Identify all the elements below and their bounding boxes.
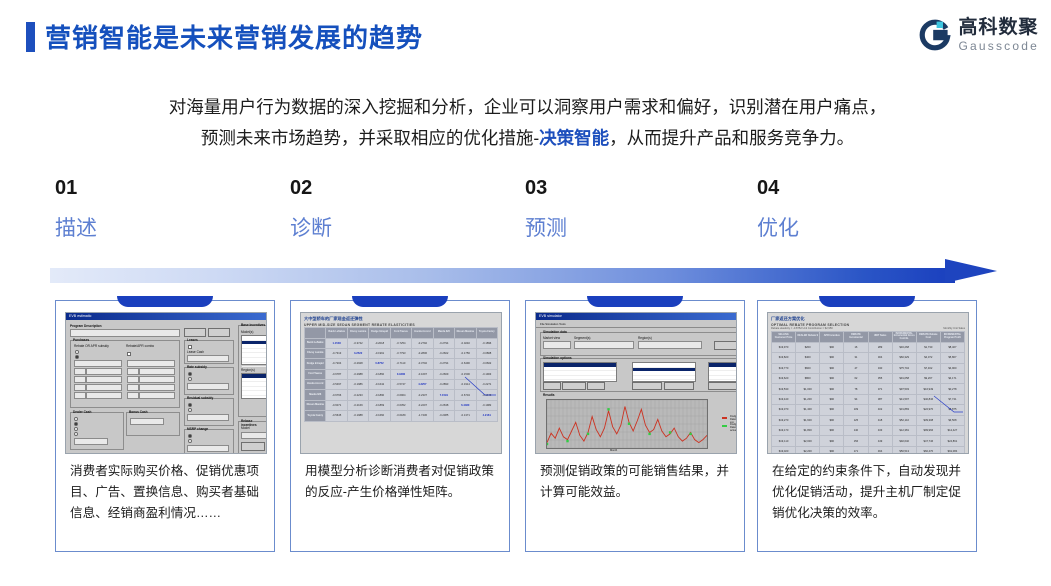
label-rebate-apr: Rebate OR APR subsidy <box>74 344 109 348</box>
combo-amount-input[interactable] <box>127 360 175 367</box>
step-describe: 01 描述 <box>55 176 255 242</box>
optimization-table: SELLING Customer PriceDEALER Rebate $APR… <box>771 331 965 455</box>
card-diagnose[interactable]: 大中型轿车的厂家现金返还弹性 UPPER MID-SIZE SEDAN SEGM… <box>290 300 510 552</box>
program-description-input[interactable] <box>70 329 180 337</box>
term-60-input[interactable] <box>86 392 122 399</box>
card-caption: 预测促销政策的可能销售结果，并计算可能效益。 <box>540 461 732 503</box>
progress-arrow <box>50 262 1000 290</box>
card-caption: 消费者实际购买价格、促销优惠项目、广告、置换信息、购买者基础信息、经销商盈利情况… <box>70 461 262 524</box>
bonus-cash-input[interactable] <box>130 418 164 425</box>
slide-header: 营销智能是未来营销发展的趋势 高科数聚 Gausscode <box>0 0 1051 78</box>
legend-swatch-actual <box>722 425 727 427</box>
matrix-title-cn: 大中型轿车的厂家现金返还弹性 <box>304 316 498 322</box>
card-row: EVB estimatic Program Description Purcha… <box>0 300 1051 556</box>
opt-title-cn: 厂家返还方案优化 <box>771 316 965 322</box>
clear-all-button[interactable] <box>664 382 694 390</box>
edit-button[interactable] <box>587 382 605 390</box>
step-row: 01 描述 02 诊断 03 预测 04 优化 <box>0 176 1051 248</box>
label-program-description: Program Description <box>70 324 102 328</box>
residual-subsidy-group <box>184 398 234 426</box>
models-list[interactable] <box>632 362 696 382</box>
thumbnail-elasticity-matrix: 大中型轿车的厂家现金返还弹性 UPPER MID-SIZE SEDAN SEGM… <box>300 312 502 454</box>
intro-paragraph: 对海量用户行为数据的深入挖掘和分析，企业可以洞察用户需求和偏好，识别潜在用户痛点… <box>50 92 1005 154</box>
card-tab <box>587 296 683 307</box>
label-results: Results <box>543 393 555 397</box>
label-models: Model(s) <box>241 330 253 334</box>
paragraph-line-2-after: ，从而提升产品和服务竞争力。 <box>609 128 854 148</box>
step-optimize: 04 优化 <box>757 176 957 242</box>
step-number: 01 <box>55 176 255 200</box>
term-60-label <box>74 392 86 399</box>
card-predict[interactable]: EVB simulator File Simulation Tools Simu… <box>525 300 745 552</box>
paragraph-line-2-before: 预测未来市场趋势，并采取相应的优化措施- <box>201 128 539 148</box>
thumbnail-windows-dialog: EVB estimatic Program Description Purcha… <box>65 312 267 454</box>
annotation-line-icon <box>930 394 964 428</box>
remove-button[interactable] <box>562 382 586 390</box>
label-simulation-options: Simulation options <box>543 356 572 360</box>
thumbnail-optimization-table: 厂家返还方案优化 OPTIMAL REBATE PROGRAM SELECTIO… <box>767 312 969 454</box>
label-lease-cash: Lease Cash <box>187 350 204 354</box>
selected-scenarios-list[interactable] <box>708 362 737 382</box>
step-label: 诊断 <box>290 216 490 242</box>
dealer-cash-input[interactable] <box>74 438 108 445</box>
region-list[interactable] <box>241 373 267 399</box>
msrp-change-input[interactable] <box>187 445 229 452</box>
rate-subsidy-group <box>184 367 234 395</box>
label-market-view: Market view <box>543 336 560 340</box>
combo-24-rate[interactable] <box>139 368 175 375</box>
step-number: 03 <box>525 176 725 200</box>
label-rate-subsidy: Rate subsidy <box>187 365 207 369</box>
label-purchases: Purchases <box>73 338 89 342</box>
label-dealer-cash: Dealer Cash <box>73 410 91 414</box>
label-regions: Region(s) <box>241 368 255 372</box>
card-describe[interactable]: EVB estimatic Program Description Purcha… <box>55 300 275 552</box>
label-leases: Leases <box>187 338 198 342</box>
step-number: 02 <box>290 176 490 200</box>
brand-logo: 高科数聚 Gausscode <box>919 18 1039 52</box>
card-tab <box>117 296 213 307</box>
opt-subtitle-left: Rebate elasticity = -0.8752 Unit Contrib… <box>771 327 833 330</box>
step-label: 预测 <box>525 216 725 242</box>
card-tab <box>819 296 915 307</box>
combo-36-rate[interactable] <box>139 376 175 383</box>
label-segments: Segment(s) <box>574 336 590 340</box>
card-caption: 用模型分析诊断消费者对促销政策的反应-产生价格弹性矩阵。 <box>305 461 497 503</box>
lease-cash-input[interactable] <box>187 355 229 362</box>
card-tab <box>352 296 448 307</box>
combo-24-label <box>127 368 139 375</box>
progress-arrow-head-icon <box>945 259 997 283</box>
label-regions: Region(s) <box>638 336 652 340</box>
gausscode-g-mark-icon <box>919 19 951 51</box>
purchase-amount-input[interactable] <box>74 360 122 367</box>
page-title: 营销智能是未来营销发展的趋势 <box>45 18 423 55</box>
legend-label-actual: Dodge Dakota actual <box>730 423 737 432</box>
checkbox-not-offered[interactable] <box>127 352 131 356</box>
logo-text-en: Gausscode <box>958 40 1039 52</box>
rebase-clear-button[interactable] <box>241 442 265 451</box>
term-48-input[interactable] <box>86 384 122 391</box>
opt-subtitle-right: Monthly Unit Sales <box>943 327 965 330</box>
simulation-plot <box>546 399 708 449</box>
label-bonus-cash: Bonus Cash <box>129 410 148 414</box>
paragraph-line-1: 对海量用户行为数据的深入挖掘和分析，企业可以洞察用户需求和偏好，识别潜在用户痛点… <box>169 97 887 117</box>
start-over-button[interactable] <box>714 341 737 350</box>
progress-arrow-bar <box>50 268 955 283</box>
term-48-label <box>74 384 86 391</box>
step-predict: 03 预测 <box>525 176 725 242</box>
label-model: Model <box>241 426 250 430</box>
rate-subsidy-input[interactable] <box>187 383 229 390</box>
combo-36-label <box>127 376 139 383</box>
term-36-input[interactable] <box>86 376 122 383</box>
combo-48-label <box>127 384 139 391</box>
step-label: 优化 <box>757 216 957 242</box>
paragraph-highlight: 决策智能 <box>539 128 609 148</box>
add-button[interactable] <box>543 382 561 390</box>
graph-button[interactable] <box>708 382 737 390</box>
legend-swatch-estimated <box>722 417 727 419</box>
logo-text-cn: 高科数聚 <box>958 18 1039 37</box>
thumbnail-simulation-chart: EVB simulator File Simulation Tools Simu… <box>535 312 737 454</box>
step-label: 描述 <box>55 216 255 242</box>
regions-select[interactable] <box>638 341 702 349</box>
model-list[interactable] <box>241 335 267 365</box>
step-diagnose: 02 诊断 <box>290 176 490 242</box>
label-base-incentives: Base incentives <box>241 323 265 327</box>
term-36-label <box>74 376 86 383</box>
options-list[interactable] <box>543 362 617 382</box>
label-simulation-data: Simulation data <box>543 330 567 334</box>
label-rebate-combo: Rebate/APR combo <box>126 344 154 348</box>
annotation-line-icon <box>463 375 497 409</box>
combo-60-rate[interactable] <box>139 392 175 399</box>
window-title: EVB estimatic <box>66 313 266 320</box>
menu-bar[interactable]: File Simulation Tools <box>540 322 566 326</box>
save-button[interactable] <box>184 328 206 337</box>
term-24-label <box>74 368 86 375</box>
residual-subsidy-input[interactable] <box>187 414 229 421</box>
select-all-button[interactable] <box>632 382 662 390</box>
label-residual-subsidy: Residual subsidy <box>187 396 213 400</box>
title-accent-bar <box>26 22 35 52</box>
rebase-model-select[interactable] <box>241 432 267 439</box>
segments-select[interactable] <box>574 341 634 349</box>
plot-xaxis-label: Month <box>610 449 617 452</box>
term-24-input[interactable] <box>86 368 122 375</box>
checkbox-no-subsidy[interactable] <box>188 345 192 349</box>
window-title: EVB simulator <box>536 313 736 320</box>
close-button[interactable] <box>208 328 230 337</box>
market-view-select[interactable] <box>543 341 571 349</box>
combo-60-label <box>127 392 139 399</box>
step-number: 04 <box>757 176 957 200</box>
combo-48-rate[interactable] <box>139 384 175 391</box>
label-msrp-change: MSRP change <box>187 427 208 431</box>
card-optimize[interactable]: 厂家返还方案优化 OPTIMAL REBATE PROGRAM SELECTIO… <box>757 300 977 552</box>
card-caption: 在给定的约束条件下，自动发现并优化促销活动，提升主机厂制定促销优化决策的效率。 <box>772 461 964 524</box>
